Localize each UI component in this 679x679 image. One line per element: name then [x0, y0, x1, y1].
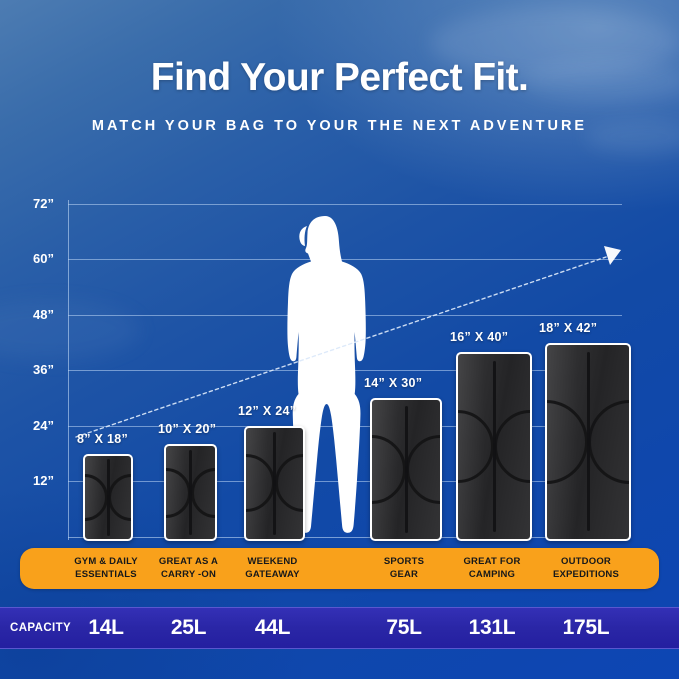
capacity-value: 44L: [218, 608, 328, 648]
y-axis-tick-label: 72”: [8, 196, 54, 211]
gridline-72: [68, 204, 622, 205]
bag-zipper-icon: [189, 450, 192, 535]
infographic-canvas: Find Your Perfect Fit. MATCH YOUR BAG TO…: [0, 0, 679, 679]
use-case-label: GYM & DAILYESSENTIALS: [74, 556, 138, 580]
bag-bar[interactable]: [545, 343, 631, 541]
capacity-strip: CAPACITY 14L25L44L75L131L175L: [0, 607, 679, 649]
bag-arc-detail: [406, 435, 442, 504]
bag-size-label: 18” X 42”: [539, 321, 597, 335]
capacity-value: 175L: [531, 608, 641, 648]
bag-bar[interactable]: [83, 454, 133, 541]
bag-arc-detail: [164, 468, 191, 518]
bag-arc-detail: [275, 454, 306, 512]
y-axis-tick-label: 36”: [8, 362, 54, 377]
use-case-label: WEEKENDGATEAWAY: [245, 556, 299, 580]
bag-arc-detail: [370, 435, 406, 504]
use-case-strip: GYM & DAILYESSENTIALSGREAT AS ACARRY -ON…: [20, 548, 659, 589]
y-axis-line: [68, 200, 69, 540]
bag-arc-detail: [244, 454, 275, 512]
use-case-label: GREAT FORCAMPING: [463, 556, 520, 580]
bag-arc-detail: [108, 474, 133, 521]
bag-zipper-icon: [587, 352, 590, 531]
y-axis-tick-label: 48”: [8, 307, 54, 322]
bag-arc-detail: [494, 410, 532, 483]
bag-bar[interactable]: [244, 426, 305, 541]
bag-size-label: 12” X 24”: [238, 404, 296, 418]
bag-arc-detail: [83, 474, 108, 521]
y-axis-tick-label: 24”: [8, 418, 54, 433]
use-case-label: GREAT AS ACARRY -ON: [159, 556, 218, 580]
use-case-cell[interactable]: OUTDOOREXPEDITIONS: [531, 548, 641, 589]
bag-arc-detail: [191, 468, 218, 518]
use-case-cell[interactable]: WEEKENDGATEAWAY: [218, 548, 328, 589]
bag-size-label: 10” X 20”: [158, 422, 216, 436]
bag-size-label: 14” X 30”: [364, 376, 422, 390]
bag-arc-detail: [456, 410, 494, 483]
y-axis-tick-label: 12”: [8, 473, 54, 488]
use-case-label: SPORTSGEAR: [384, 556, 424, 580]
bag-zipper-icon: [405, 406, 408, 534]
bag-size-label: 8” X 18”: [77, 432, 128, 446]
bag-size-label: 16” X 40”: [450, 330, 508, 344]
bag-bar[interactable]: [456, 352, 532, 541]
bag-zipper-icon: [273, 432, 276, 534]
bag-arc-detail: [588, 400, 631, 484]
use-case-label: OUTDOOREXPEDITIONS: [553, 556, 619, 580]
bag-zipper-icon: [107, 459, 110, 536]
bag-zipper-icon: [493, 361, 496, 531]
bag-arc-detail: [545, 400, 588, 484]
bag-bar[interactable]: [164, 444, 217, 541]
bag-bar[interactable]: [370, 398, 442, 541]
y-axis-tick-label: 60”: [8, 251, 54, 266]
